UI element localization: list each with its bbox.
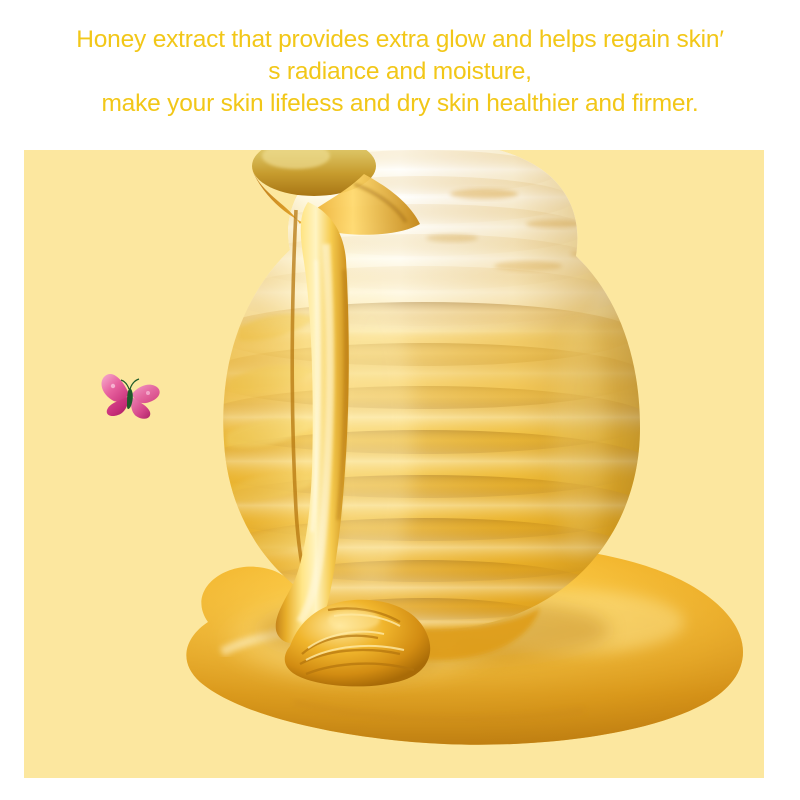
antenna-right — [130, 379, 139, 389]
honey-dipper — [252, 150, 420, 235]
headline-line-3: make your skin lifeless and dry skin hea… — [0, 88, 800, 120]
headline-block: Honey extract that provides extra glow a… — [0, 24, 800, 120]
poster-root: Honey extract that provides extra glow a… — [0, 0, 800, 800]
product-image-panel — [24, 150, 764, 778]
wing-upper-left — [101, 374, 129, 402]
butterfly — [96, 368, 164, 424]
wing-speckle-2 — [146, 391, 150, 395]
headline-line-1: Honey extract that provides extra glow a… — [0, 24, 800, 56]
swirl-top-gloss — [328, 610, 380, 630]
jar-gloss-right — [554, 318, 606, 558]
honey-drizzle — [204, 150, 464, 740]
wing-speckle-1 — [111, 384, 115, 388]
honey-stream — [276, 202, 349, 643]
headline-line-2: s radiance and moisture, — [0, 56, 800, 88]
